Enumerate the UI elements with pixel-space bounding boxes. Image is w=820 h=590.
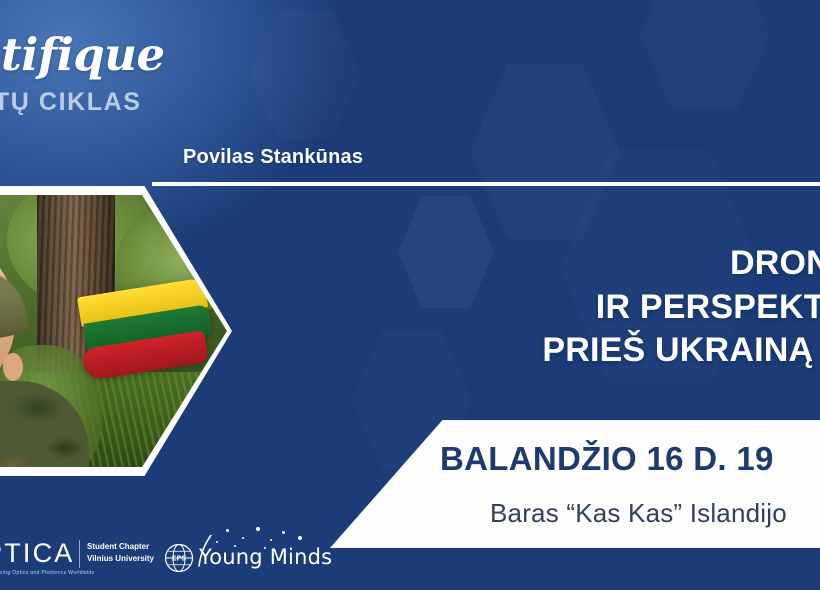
footer-logos: PTICA Advancing Optics and Photonics Wor… bbox=[0, 528, 820, 590]
star-icon bbox=[216, 541, 218, 543]
brand-subtitle: KAITŲ CIKLAS bbox=[0, 88, 142, 117]
student-chapter-line2: Vilnius University bbox=[87, 553, 154, 565]
event-poster: ientifique KAITŲ CIKLAS Povilas Stankūna… bbox=[0, 0, 820, 590]
optica-tagline: Advancing Optics and Photonics Worldwide bbox=[0, 570, 95, 576]
speaker-photo-frame bbox=[0, 186, 232, 476]
young-minds-logo: EPS Young Minds bbox=[164, 533, 314, 581]
eps-label: EPS bbox=[172, 555, 187, 563]
star-icon bbox=[256, 527, 260, 531]
background-hexagon-decor bbox=[640, 0, 770, 110]
event-date: BALANDŽIO 16 D. 19 bbox=[440, 440, 820, 478]
optica-wordmark: PTICA bbox=[0, 538, 95, 569]
star-icon bbox=[298, 536, 302, 540]
background-hexagon-decor bbox=[250, 10, 360, 138]
event-venue: Baras “Kas Kas” Islandijo bbox=[490, 498, 820, 529]
lecture-title-line: IR PERSPEKTYVOS bbox=[300, 286, 820, 330]
background-hexagon-decor bbox=[470, 64, 620, 239]
student-chapter-label: Student Chapter Vilnius University bbox=[87, 541, 154, 564]
header-divider-rule bbox=[152, 182, 820, 186]
star-icon bbox=[226, 529, 229, 532]
globe-icon: EPS bbox=[164, 543, 194, 573]
speaker-photo bbox=[0, 195, 227, 467]
young-minds-wordmark: Young Minds bbox=[199, 545, 332, 569]
star-icon bbox=[282, 531, 285, 534]
lecture-title-line: DRONŲ VAI bbox=[300, 242, 820, 286]
student-chapter-line1: Student Chapter bbox=[87, 541, 154, 553]
optica-logo: PTICA Advancing Optics and Photonics Wor… bbox=[0, 538, 95, 576]
star-icon bbox=[270, 539, 272, 541]
photo-person-ear bbox=[3, 353, 23, 381]
lecture-title-line: PRIEŠ UKRAINĄ KONT bbox=[300, 329, 820, 373]
brand-script-title: ientifique bbox=[0, 28, 244, 81]
speaker-name: Povilas Stankūnas bbox=[183, 146, 363, 169]
logo-divider bbox=[79, 540, 80, 568]
star-icon bbox=[242, 537, 244, 539]
lecture-title: DRONŲ VAI IR PERSPEKTYVOS PRIEŠ UKRAINĄ … bbox=[300, 242, 820, 373]
